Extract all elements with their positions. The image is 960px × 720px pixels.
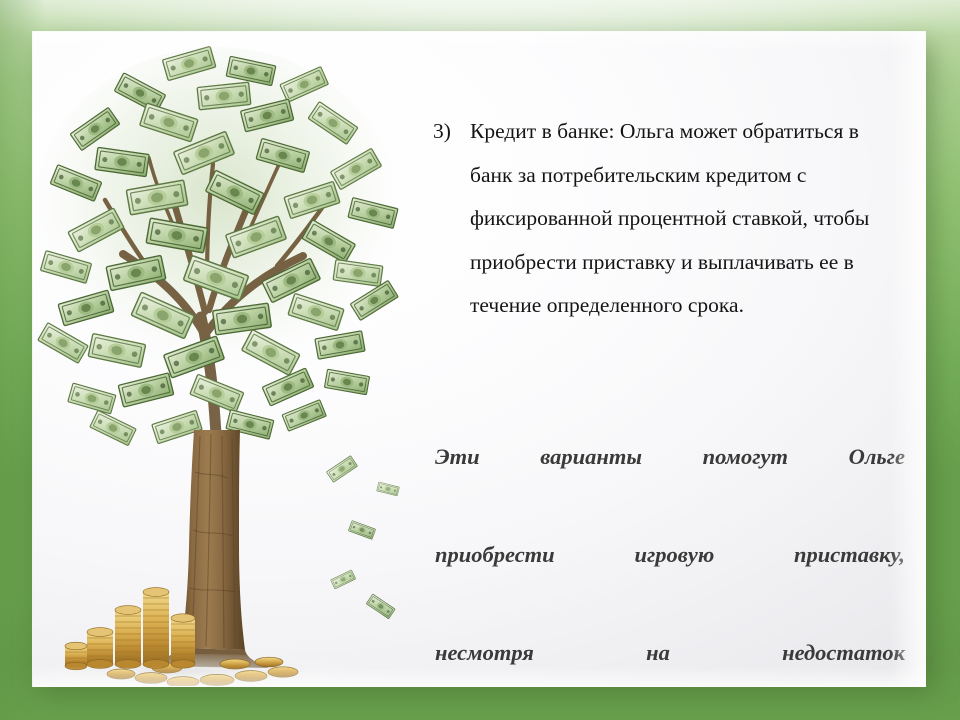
conclusion-paragraph: Эти варианты помогут Ольге приобрести иг… (435, 432, 905, 686)
list-marker: 3) (433, 110, 463, 154)
slide-content-card: 3) Кредит в банке: Ольга может обратитьс… (33, 32, 925, 686)
money-tree-illustration (33, 32, 403, 686)
conclusion-line-1: Эти варианты помогут Ольге (435, 432, 905, 530)
presentation-slide: 3) Кредит в банке: Ольга может обратитьс… (0, 0, 960, 720)
numbered-list-item: 3) Кредит в банке: Ольга может обратитьс… (433, 110, 905, 328)
conclusion-line-3: несмотря на недостаток (435, 628, 905, 686)
money-tree-image (33, 32, 403, 686)
conclusion-line-2: приобрести игровую приставку, (435, 530, 905, 628)
list-item-text: Кредит в банке: Ольга может обратиться в… (470, 110, 905, 328)
falling-bills (326, 456, 399, 619)
text-panel: 3) Кредит в банке: Ольга может обратитьс… (400, 32, 925, 686)
